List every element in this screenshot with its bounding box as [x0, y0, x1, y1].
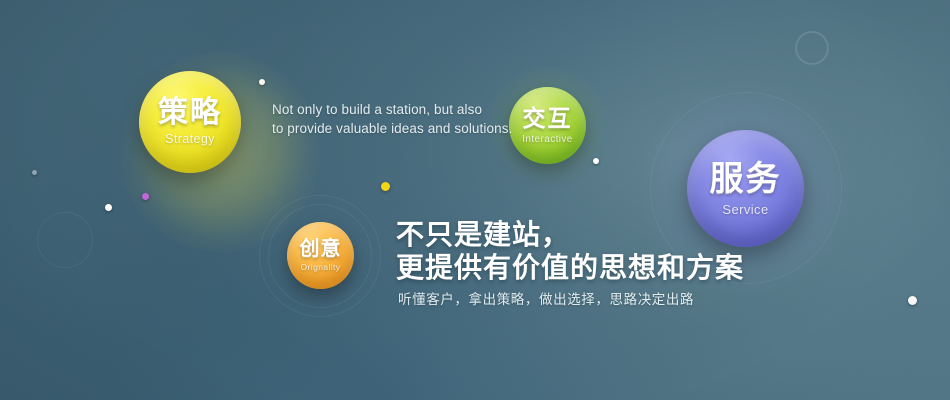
sphere-service-en-label: Service: [722, 203, 768, 216]
intro-copy: Not only to build a station, but also to…: [272, 100, 502, 138]
sphere-originality-en-label: Orignality: [301, 263, 341, 272]
sphere-interactive[interactable]: 交互 Interactive: [509, 87, 586, 164]
vignette-overlay: [0, 0, 950, 400]
sphere-interactive-en-label: Interactive: [522, 135, 573, 145]
intro-copy-line-2: to provide valuable ideas and solutions.: [272, 119, 502, 138]
headline: 不只是建站， 更提供有价值的思想和方案: [396, 218, 744, 284]
ring-bottom-left: [37, 212, 93, 268]
sphere-service-cn-label: 服务: [710, 162, 782, 196]
subline: 听懂客户，拿出策略，做出选择，思路决定出路: [398, 288, 694, 308]
sphere-originality[interactable]: 创意 Orignality: [287, 222, 354, 289]
dot-white-right: [908, 296, 917, 305]
headline-line-2: 更提供有价值的思想和方案: [396, 251, 744, 284]
dot-white-mid: [593, 158, 599, 164]
hero-banner: 策略 Strategy 交互 Interactive 创意 Orignality…: [0, 0, 950, 400]
ring-top-right: [795, 31, 829, 65]
sphere-strategy[interactable]: 策略 Strategy: [139, 71, 241, 173]
intro-copy-line-1: Not only to build a station, but also: [272, 100, 502, 119]
dot-white-upper: [259, 79, 266, 86]
dot-purple: [142, 193, 149, 200]
sphere-originality-cn-label: 创意: [300, 239, 342, 259]
headline-line-1: 不只是建站，: [396, 218, 744, 251]
dot-pale-left: [32, 170, 37, 175]
sphere-interactive-cn-label: 交互: [523, 107, 573, 130]
sphere-strategy-cn-label: 策略: [158, 98, 222, 128]
dot-white-left: [105, 204, 112, 211]
sphere-strategy-en-label: Strategy: [165, 133, 215, 146]
dot-yellow: [381, 182, 390, 191]
